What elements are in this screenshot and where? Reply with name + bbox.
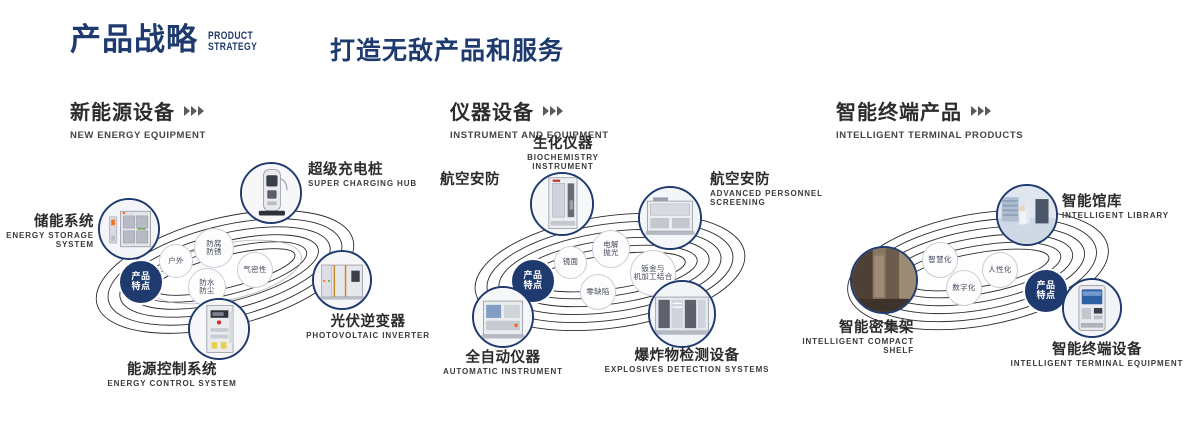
section-title-text-2: 智能终端产品	[836, 96, 962, 125]
page-title-cn: 产品战略	[70, 24, 198, 55]
product-label-automatic-instrument: 全自动仪器 AUTOMATIC INSTRUMENT	[417, 350, 589, 377]
page-title-en: PRODUCT STRATEGY	[208, 31, 257, 53]
product-node-advanced-personnel-screening[interactable]	[638, 186, 702, 250]
product-label-energy-storage-system: 储能系统 ENERGY STORAGE SYSTEM	[0, 214, 94, 250]
page-subtitle: 打造无敌产品和服务	[330, 31, 564, 67]
feature-bubble-3-2: 人性化	[982, 252, 1018, 288]
product-node-energy-control-system[interactable]	[188, 298, 250, 360]
section-header-intelligent: 智能终端产品 INTELLIGENT TERMINAL PRODUCTS	[836, 96, 1023, 141]
cluster-instrument-and-equipment: 镜面 电解 抛光 钣金与 机加工结合 零缺陷 产品 特点 航空安防 生化仪器 B…	[430, 150, 830, 400]
section-title-cn-1: 仪器设备	[450, 96, 609, 125]
product-label-energy-control-system: 能源控制系统 ENERGY CONTROL SYSTEM	[82, 362, 262, 389]
compact-shelf-icon	[852, 248, 916, 312]
chevron-right-icon	[184, 106, 204, 116]
cluster-intelligent-terminal-products: 智慧化 数字化 人性化 产品 特点 智能馆库	[810, 150, 1200, 400]
energy-storage-cabinet-icon	[100, 200, 158, 258]
explosives-detector-icon	[650, 282, 714, 346]
product-node-automatic-instrument[interactable]	[472, 286, 534, 348]
feature-bubble-2-1: 电解 抛光	[592, 230, 630, 268]
product-label-biochemistry-instrument: 生化仪器 BIOCHEMISTRY INSTRUMENT	[468, 136, 658, 172]
product-node-biochemistry-instrument[interactable]	[530, 172, 594, 236]
feature-bubble-2-3: 零缺陷	[580, 274, 616, 310]
control-cabinet-icon	[190, 300, 248, 358]
product-label-intelligent-compact-shelf: 智能密集架 INTELLIGENT COMPACT SHELF	[734, 320, 914, 356]
section-header-new-energy: 新能源设备 NEW ENERGY EQUIPMENT	[70, 96, 206, 141]
feature-bubble-2-0: 镜面	[554, 246, 587, 279]
section-title-cn-2: 智能终端产品	[836, 96, 1023, 125]
section-title-text-0: 新能源设备	[70, 96, 175, 125]
feature-bubble-1-0: 户外	[159, 244, 193, 278]
chevron-right-icon	[971, 106, 991, 116]
product-features-badge-3: 产品 特点	[1025, 270, 1067, 312]
product-label-aviation-security: 航空安防	[390, 172, 500, 188]
feature-bubble-1-1: 防腐 防锈	[194, 228, 234, 268]
product-label-intelligent-terminal-equipment: 智能终端设备 INTELLIGENT TERMINAL EQUIPMENT	[1008, 342, 1186, 369]
product-node-energy-storage-system[interactable]	[98, 198, 160, 260]
infographic-canvas: 产品战略 PRODUCT STRATEGY 打造无敌产品和服务 新能源设备 NE…	[0, 0, 1200, 422]
product-features-badge-1: 产品 特点	[120, 261, 162, 303]
automatic-instrument-icon	[474, 288, 532, 346]
biochemistry-instrument-icon	[532, 174, 592, 234]
product-node-intelligent-terminal-equipment[interactable]	[1062, 278, 1122, 338]
cluster-new-energy-equipment: 户外 防腐 防锈 防水 防尘 气密性 产品 特点 储能系统 ENERGY S	[40, 150, 440, 400]
section-title-cn-0: 新能源设备	[70, 96, 206, 125]
chevron-right-icon	[543, 106, 563, 116]
product-node-intelligent-compact-shelf[interactable]	[850, 246, 918, 314]
product-node-intelligent-library[interactable]	[996, 184, 1058, 246]
feature-bubble-1-3: 气密性	[237, 252, 273, 288]
feature-bubble-3-1: 数字化	[946, 270, 982, 306]
charging-pile-icon	[242, 164, 300, 222]
screening-machine-icon	[640, 188, 700, 248]
intelligent-library-icon	[998, 186, 1056, 244]
product-node-explosives-detection-systems[interactable]	[648, 280, 716, 348]
product-label-photovoltaic-inverter: 光伏逆变器 PHOTOVOLTAIC INVERTER	[288, 314, 448, 341]
section-title-en-2: INTELLIGENT TERMINAL PRODUCTS	[836, 130, 1023, 141]
section-header-instrument: 仪器设备 INSTRUMENT AND EQUIPMENT	[450, 96, 609, 141]
product-label-intelligent-library: 智能馆库 INTELLIGENT LIBRARY	[1062, 194, 1200, 221]
inverter-cabinet-icon	[314, 252, 370, 308]
product-node-super-charging-hub[interactable]	[240, 162, 302, 224]
page-title: 产品战略 PRODUCT STRATEGY	[70, 24, 271, 55]
product-node-photovoltaic-inverter[interactable]	[312, 250, 372, 310]
terminal-kiosk-icon	[1064, 280, 1120, 336]
section-title-text-1: 仪器设备	[450, 96, 534, 125]
section-title-en-0: NEW ENERGY EQUIPMENT	[70, 130, 206, 141]
